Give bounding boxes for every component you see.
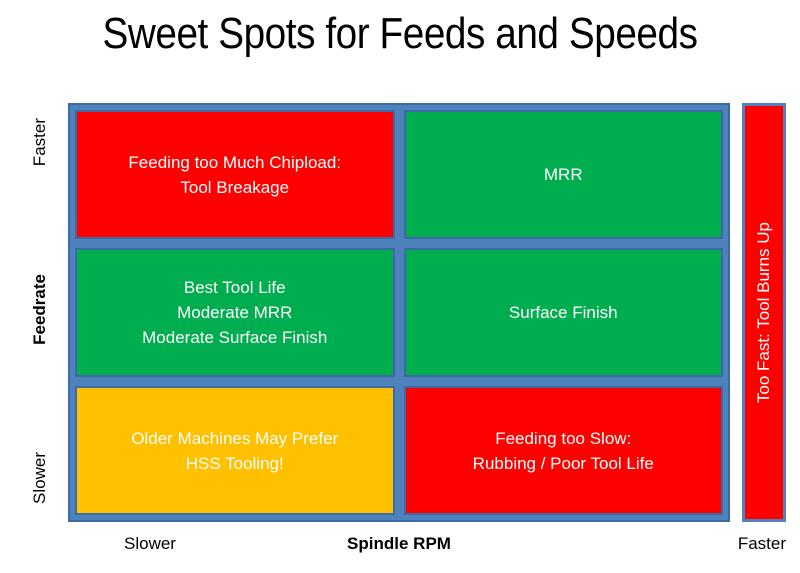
too-fast-warning-label: Too Fast: Tool Burns Up (754, 222, 774, 403)
matrix-cell-slow-feed-fast-rpm[interactable]: Feeding too Slow: Rubbing / Poor Tool Li… (404, 386, 724, 515)
matrix-cell-label: Feeding too Much Chipload: Tool Breakage (128, 150, 341, 200)
y-axis-top-label: Faster (30, 118, 50, 166)
matrix-cell-label: Best Tool Life Moderate MRR Moderate Sur… (142, 275, 327, 350)
x-axis-title: Spindle RPM (68, 534, 730, 554)
matrix-cell-fast-feed-slow-rpm[interactable]: Feeding too Much Chipload: Tool Breakage (75, 110, 395, 239)
x-axis-right-label: Faster (738, 534, 786, 554)
x-axis-labels: Slower Spindle RPM Faster (68, 534, 730, 564)
matrix-cell-mid-feed-fast-rpm[interactable]: Surface Finish (404, 248, 724, 377)
feeds-speeds-matrix: Feeding too Much Chipload: Tool Breakage… (68, 103, 730, 522)
y-axis-labels: Faster Feedrate Slower (14, 104, 66, 522)
y-axis-bottom-label: Slower (30, 452, 50, 504)
matrix-cell-label: Older Machines May Prefer HSS Tooling! (131, 426, 338, 476)
matrix-cell-mid-feed-slow-rpm[interactable]: Best Tool Life Moderate MRR Moderate Sur… (75, 248, 395, 377)
too-fast-warning-bar[interactable]: Too Fast: Tool Burns Up (742, 103, 786, 522)
matrix-cell-label: Surface Finish (509, 300, 618, 325)
matrix-grid: Feeding too Much Chipload: Tool Breakage… (75, 110, 723, 515)
matrix-cell-label: Feeding too Slow: Rubbing / Poor Tool Li… (473, 426, 654, 476)
matrix-cell-slow-feed-slow-rpm[interactable]: Older Machines May Prefer HSS Tooling! (75, 386, 395, 515)
matrix-cell-fast-feed-fast-rpm[interactable]: MRR (404, 110, 724, 239)
page-title: Sweet Spots for Feeds and Speeds (48, 6, 752, 62)
matrix-cell-label: MRR (544, 162, 583, 187)
y-axis-title: Feedrate (30, 274, 50, 345)
